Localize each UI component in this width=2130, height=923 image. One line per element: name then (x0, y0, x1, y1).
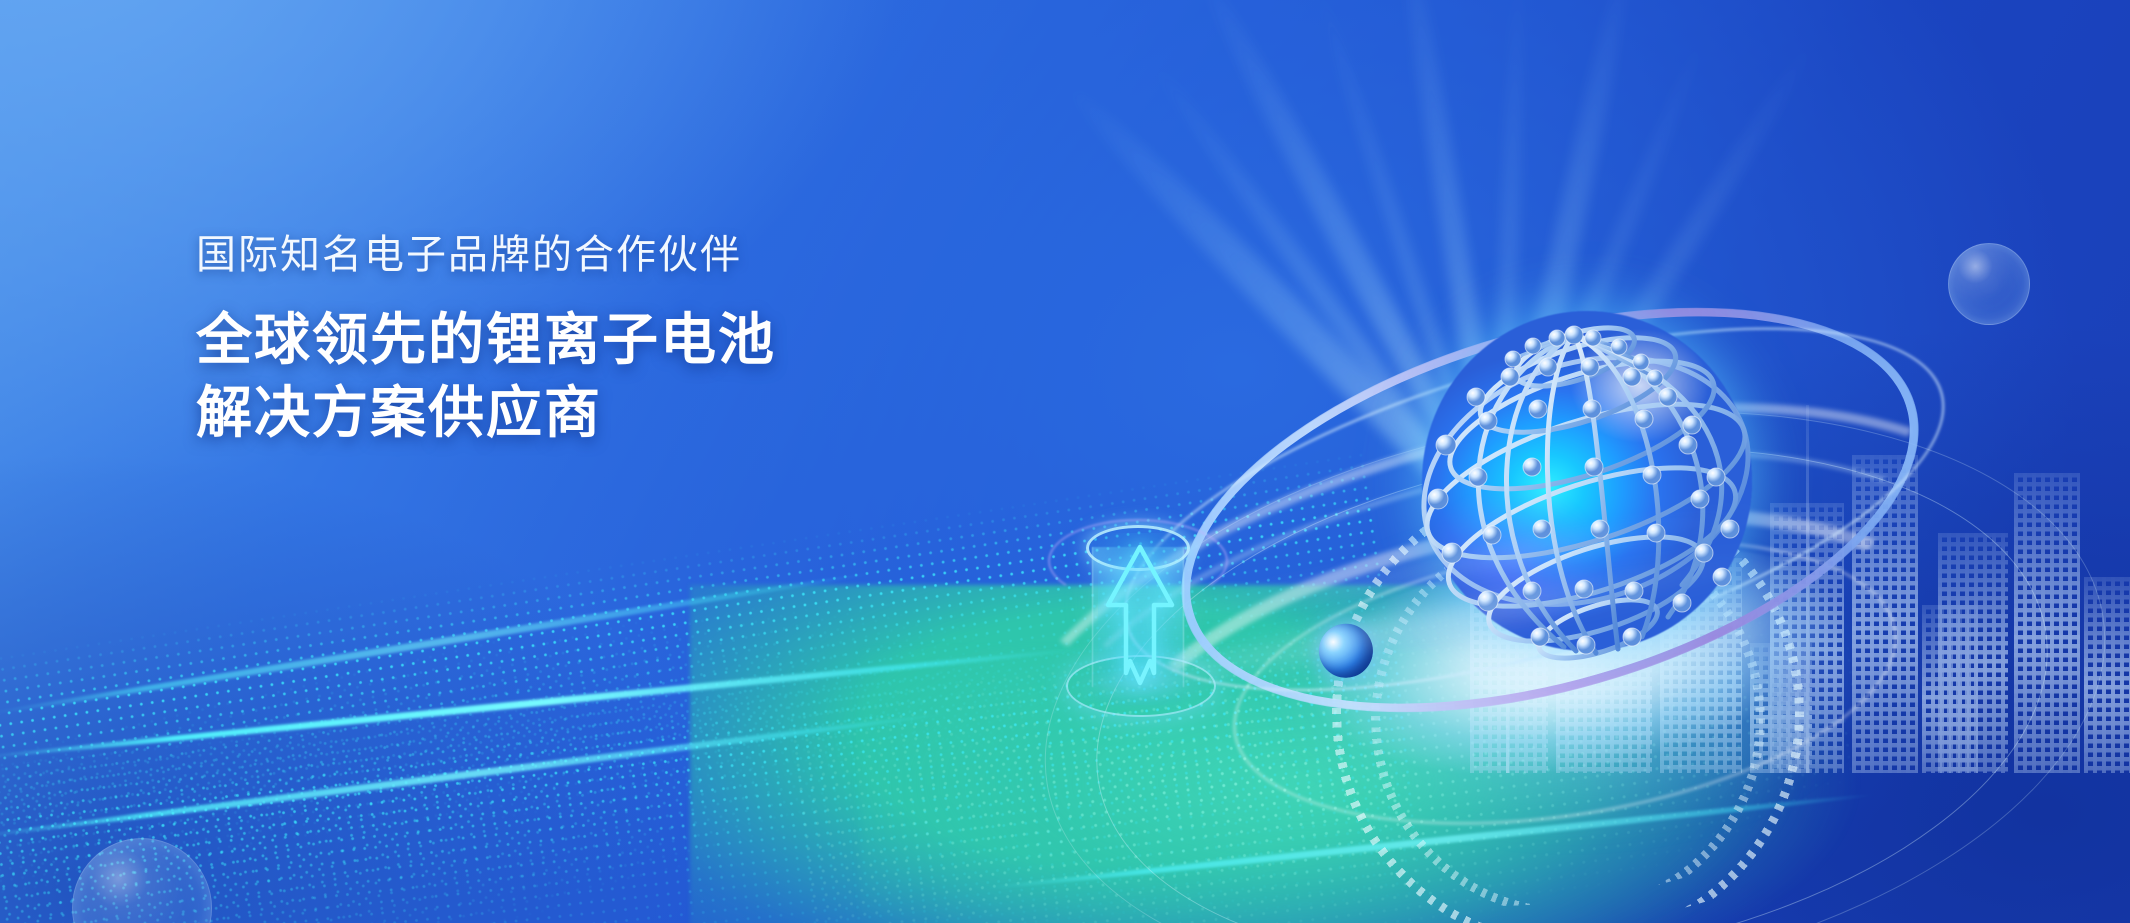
hero-headline-line-2: 解决方案供应商 (196, 377, 776, 450)
glass-bubble (1948, 243, 2030, 325)
hero-text-block: 国际知名电子品牌的合作伙伴 全球领先的锂离子电池 解决方案供应商 (196, 228, 776, 450)
hero-headline: 全球领先的锂离子电池 解决方案供应商 (196, 304, 776, 450)
hero-subtitle: 国际知名电子品牌的合作伙伴 (196, 228, 776, 282)
hero-headline-line-1: 全球领先的锂离子电池 (196, 304, 776, 377)
hero-banner: 国际知名电子品牌的合作伙伴 全球领先的锂离子电池 解决方案供应商 (0, 0, 2130, 923)
